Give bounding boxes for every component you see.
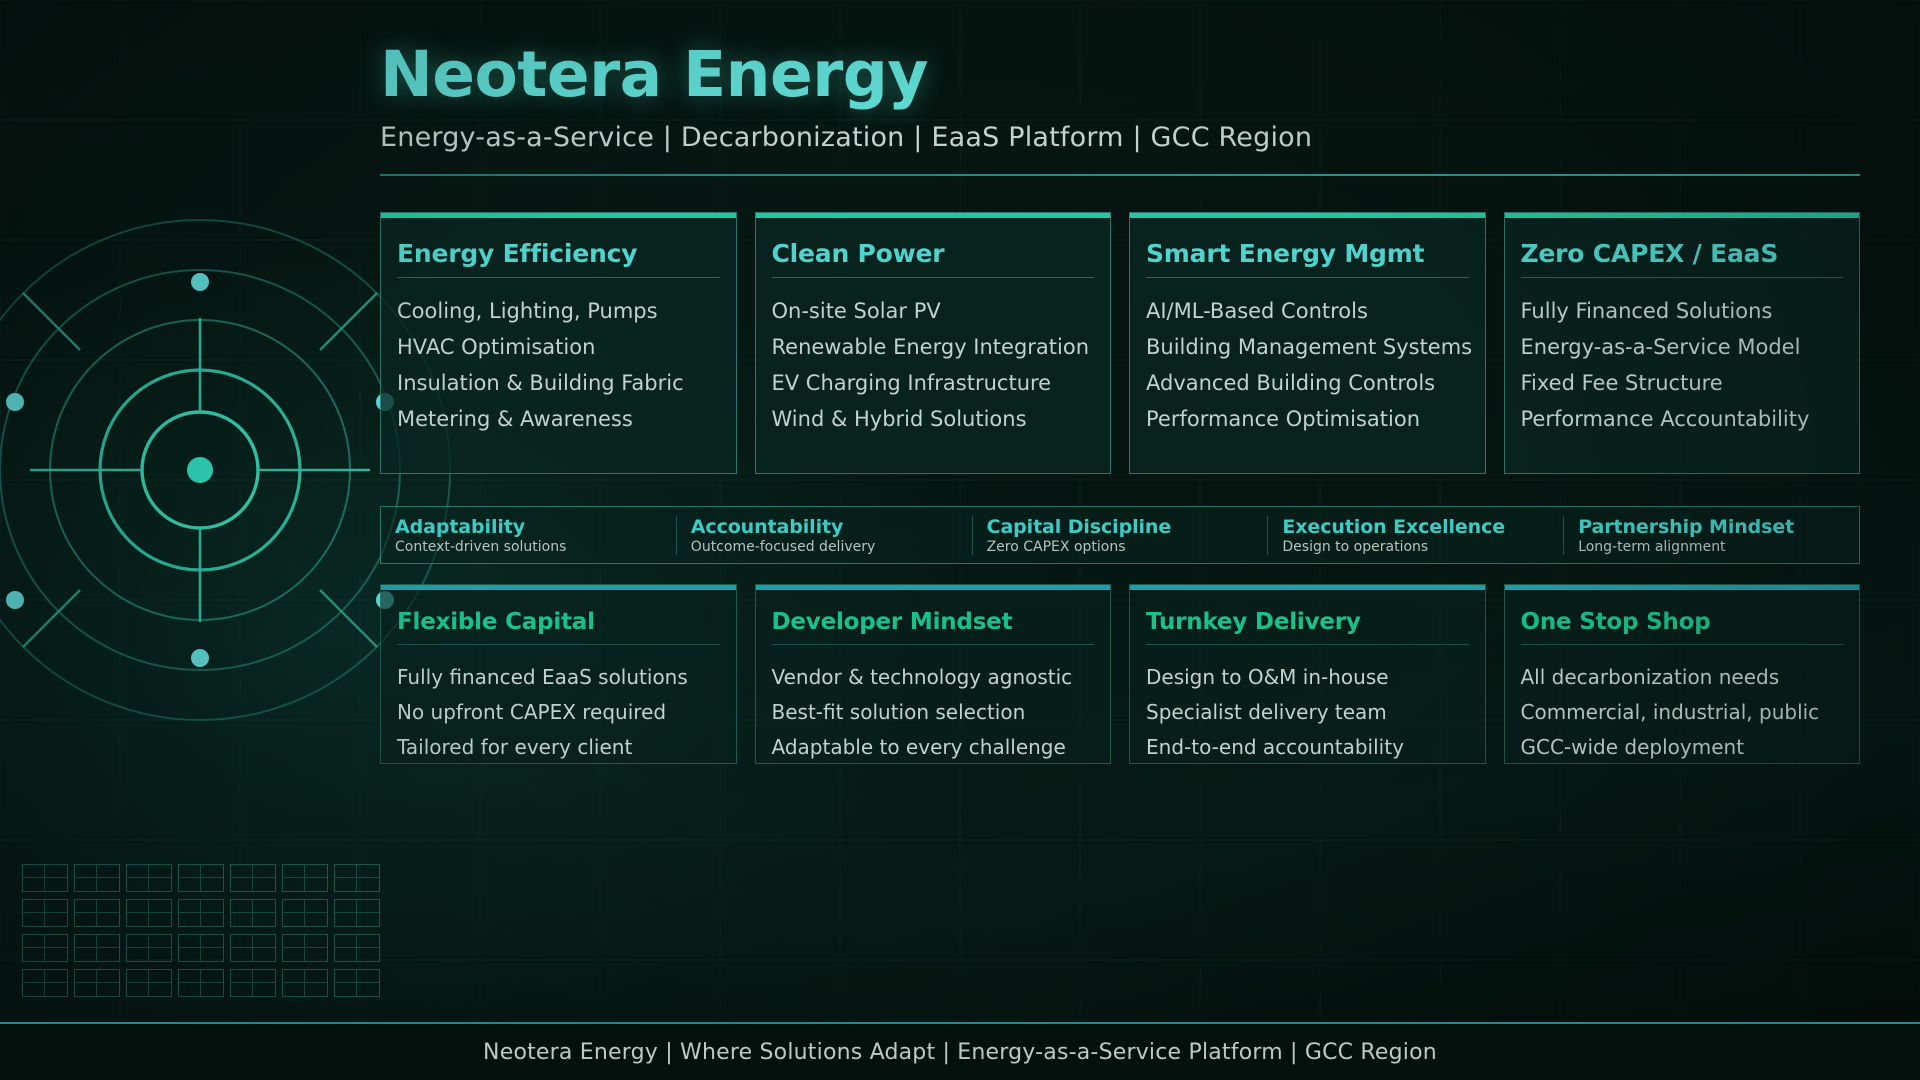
solar-panel: [282, 934, 328, 962]
page-footer: Neotera Energy | Where Solutions Adapt |…: [0, 1024, 1920, 1080]
list-item: Metering & Awareness: [397, 401, 720, 437]
list-item: Commercial, industrial, public: [1521, 695, 1844, 730]
card-title-divider: [1146, 644, 1469, 645]
list-item: Specialist delivery team: [1146, 695, 1469, 730]
solar-panel: [22, 864, 68, 892]
list-item: Fully financed EaaS solutions: [397, 660, 720, 695]
list-item: Cooling, Lighting, Pumps: [397, 293, 720, 329]
solar-panel: [178, 864, 224, 892]
differentiator-row: Flexible Capital Fully financed EaaS sol…: [380, 584, 1860, 764]
solar-panel: [230, 864, 276, 892]
card-title: Zero CAPEX / EaaS: [1521, 239, 1844, 268]
capability-card-zero-capex-eaas[interactable]: Zero CAPEX / EaaS Fully Financed Solutio…: [1504, 212, 1861, 474]
card-title-divider: [397, 277, 720, 278]
card-item-list: On-site Solar PV Renewable Energy Integr…: [772, 293, 1095, 437]
card-title: Flexible Capital: [397, 609, 720, 635]
card-accent-bar: [756, 585, 1111, 590]
list-item: EV Charging Infrastructure: [772, 365, 1095, 401]
list-item: Wind & Hybrid Solutions: [772, 401, 1095, 437]
value-description: Design to operations: [1282, 539, 1549, 555]
list-item: On-site Solar PV: [772, 293, 1095, 329]
list-item: No upfront CAPEX required: [397, 695, 720, 730]
solar-panel: [178, 899, 224, 927]
card-title: Turnkey Delivery: [1146, 609, 1469, 635]
solar-panel: [230, 969, 276, 997]
solar-panel: [178, 934, 224, 962]
solar-panel: [334, 969, 380, 997]
solar-panel: [22, 934, 68, 962]
value-name: Capital Discipline: [987, 516, 1254, 538]
solar-panel-array-icon: [22, 864, 380, 997]
capability-card-smart-energy-mgmt[interactable]: Smart Energy Mgmt AI/ML-Based Controls B…: [1129, 212, 1486, 474]
card-accent-bar: [381, 213, 736, 218]
list-item: End-to-end accountability: [1146, 730, 1469, 764]
list-item: Insulation & Building Fabric: [397, 365, 720, 401]
value-description: Context-driven solutions: [395, 539, 662, 555]
list-item: HVAC Optimisation: [397, 329, 720, 365]
card-title-divider: [1146, 277, 1469, 278]
differentiator-card-one-stop-shop[interactable]: One Stop Shop All decarbonization needs …: [1504, 584, 1861, 764]
list-item: Fixed Fee Structure: [1521, 365, 1844, 401]
header-divider: [380, 174, 1860, 176]
solar-panel: [282, 899, 328, 927]
value-item-accountability[interactable]: Accountability Outcome-focused delivery: [676, 516, 972, 555]
solar-panel: [282, 969, 328, 997]
list-item: Performance Optimisation: [1146, 401, 1469, 437]
solar-panel: [334, 864, 380, 892]
card-item-list: AI/ML-Based Controls Building Management…: [1146, 293, 1469, 437]
solar-panel: [74, 969, 120, 997]
solar-panel: [74, 899, 120, 927]
card-title: One Stop Shop: [1521, 609, 1844, 635]
solar-panel: [126, 864, 172, 892]
page-title: Neotera Energy: [380, 42, 1860, 108]
list-item: Performance Accountability: [1521, 401, 1844, 437]
differentiator-card-developer-mindset[interactable]: Developer Mindset Vendor & technology ag…: [755, 584, 1112, 764]
card-title: Clean Power: [772, 239, 1095, 268]
solar-panel: [74, 864, 120, 892]
card-title: Smart Energy Mgmt: [1146, 239, 1469, 268]
list-item: Design to O&M in-house: [1146, 660, 1469, 695]
value-name: Partnership Mindset: [1578, 516, 1845, 538]
solar-panel: [126, 969, 172, 997]
solar-panel: [178, 969, 224, 997]
card-accent-bar: [381, 585, 736, 590]
value-pillars-strip: Adaptability Context-driven solutions Ac…: [380, 506, 1860, 564]
card-item-list: Cooling, Lighting, Pumps HVAC Optimisati…: [397, 293, 720, 437]
card-title-divider: [772, 644, 1095, 645]
solar-panel: [230, 899, 276, 927]
capability-card-energy-efficiency[interactable]: Energy Efficiency Cooling, Lighting, Pum…: [380, 212, 737, 474]
card-item-list: All decarbonization needs Commercial, in…: [1521, 660, 1844, 764]
card-item-list: Vendor & technology agnostic Best-fit so…: [772, 660, 1095, 764]
solar-panel: [334, 934, 380, 962]
footer-text: Neotera Energy | Where Solutions Adapt |…: [483, 1040, 1437, 1065]
card-accent-bar: [756, 213, 1111, 218]
value-item-partnership-mindset[interactable]: Partnership Mindset Long-term alignment: [1563, 516, 1859, 555]
card-item-list: Fully financed EaaS solutions No upfront…: [397, 660, 720, 764]
list-item: Building Management Systems: [1146, 329, 1469, 365]
page-subtitle: Energy-as-a-Service | Decarbonization | …: [380, 122, 1860, 153]
value-name: Accountability: [691, 516, 958, 538]
value-name: Execution Excellence: [1282, 516, 1549, 538]
list-item: Advanced Building Controls: [1146, 365, 1469, 401]
list-item: All decarbonization needs: [1521, 660, 1844, 695]
card-accent-bar: [1505, 213, 1860, 218]
card-accent-bar: [1505, 585, 1860, 590]
list-item: GCC-wide deployment: [1521, 730, 1844, 764]
card-title: Developer Mindset: [772, 609, 1095, 635]
list-item: Renewable Energy Integration: [772, 329, 1095, 365]
value-description: Long-term alignment: [1578, 539, 1845, 555]
value-description: Zero CAPEX options: [987, 539, 1254, 555]
card-item-list: Design to O&M in-house Specialist delive…: [1146, 660, 1469, 764]
list-item: Best-fit solution selection: [772, 695, 1095, 730]
card-accent-bar: [1130, 213, 1485, 218]
page-header: Neotera Energy Energy-as-a-Service | Dec…: [380, 42, 1860, 176]
card-title-divider: [1521, 644, 1844, 645]
list-item: AI/ML-Based Controls: [1146, 293, 1469, 329]
solar-panel: [22, 899, 68, 927]
value-item-execution-excellence[interactable]: Execution Excellence Design to operation…: [1267, 516, 1563, 555]
list-item: Tailored for every client: [397, 730, 720, 764]
primary-capability-row: Energy Efficiency Cooling, Lighting, Pum…: [380, 212, 1860, 474]
capability-card-clean-power[interactable]: Clean Power On-site Solar PV Renewable E…: [755, 212, 1112, 474]
list-item: Energy-as-a-Service Model: [1521, 329, 1844, 365]
card-item-list: Fully Financed Solutions Energy-as-a-Ser…: [1521, 293, 1844, 437]
differentiator-card-turnkey-delivery[interactable]: Turnkey Delivery Design to O&M in-house …: [1129, 584, 1486, 764]
list-item: Fully Financed Solutions: [1521, 293, 1844, 329]
solar-panel: [126, 899, 172, 927]
differentiator-card-flexible-capital[interactable]: Flexible Capital Fully financed EaaS sol…: [380, 584, 737, 764]
card-title-divider: [397, 644, 720, 645]
card-title-divider: [1521, 277, 1844, 278]
solar-panel: [230, 934, 276, 962]
value-item-capital-discipline[interactable]: Capital Discipline Zero CAPEX options: [972, 516, 1268, 555]
value-item-adaptability[interactable]: Adaptability Context-driven solutions: [381, 516, 676, 555]
list-item: Vendor & technology agnostic: [772, 660, 1095, 695]
value-name: Adaptability: [395, 516, 662, 538]
solar-panel: [282, 864, 328, 892]
list-item: Adaptable to every challenge: [772, 730, 1095, 764]
solar-panel: [74, 934, 120, 962]
card-title-divider: [772, 277, 1095, 278]
solar-panel: [22, 969, 68, 997]
card-title: Energy Efficiency: [397, 239, 720, 268]
solar-panel: [126, 934, 172, 962]
solar-panel: [334, 899, 380, 927]
value-description: Outcome-focused delivery: [691, 539, 958, 555]
card-accent-bar: [1130, 585, 1485, 590]
